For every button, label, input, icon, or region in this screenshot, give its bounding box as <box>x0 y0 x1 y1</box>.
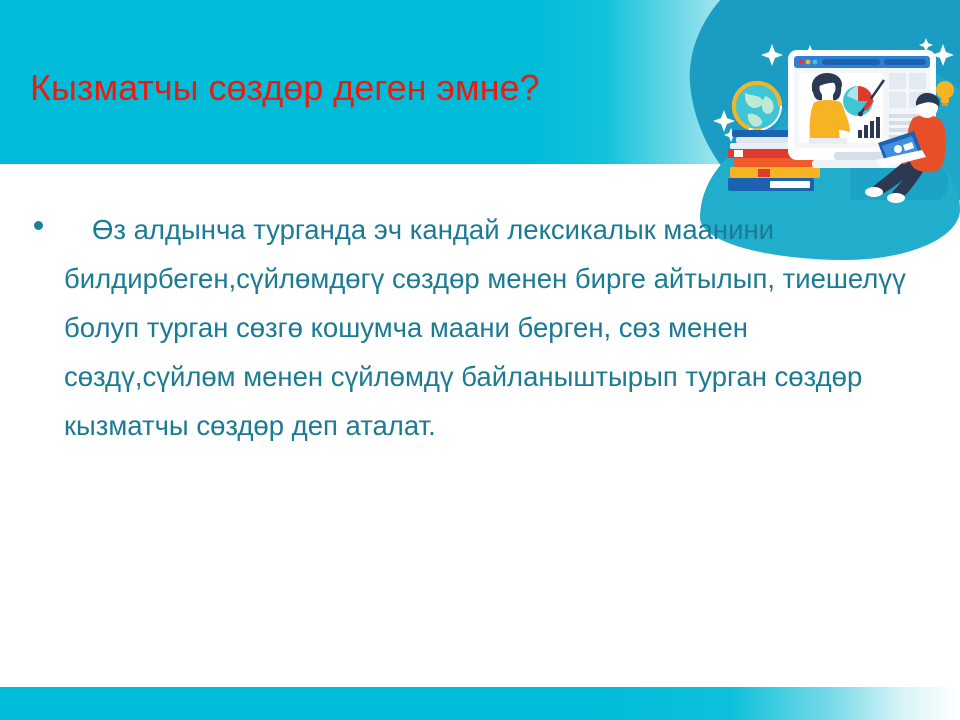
footer-band <box>0 687 960 720</box>
body-content: Өз алдынча турганда эч кандай лексикалык… <box>28 205 918 450</box>
bullet-marker-icon <box>34 221 43 230</box>
list-item: Өз алдынча турганда эч кандай лексикалык… <box>28 205 918 450</box>
slide-title: Кызматчы сөздөр деген эмне? <box>30 68 540 108</box>
bullet-text: Өз алдынча турганда эч кандай лексикалык… <box>64 205 918 450</box>
slide-canvas: Кызматчы сөздөр деген эмне? <box>0 0 960 720</box>
e-learning-illustration <box>700 0 960 205</box>
